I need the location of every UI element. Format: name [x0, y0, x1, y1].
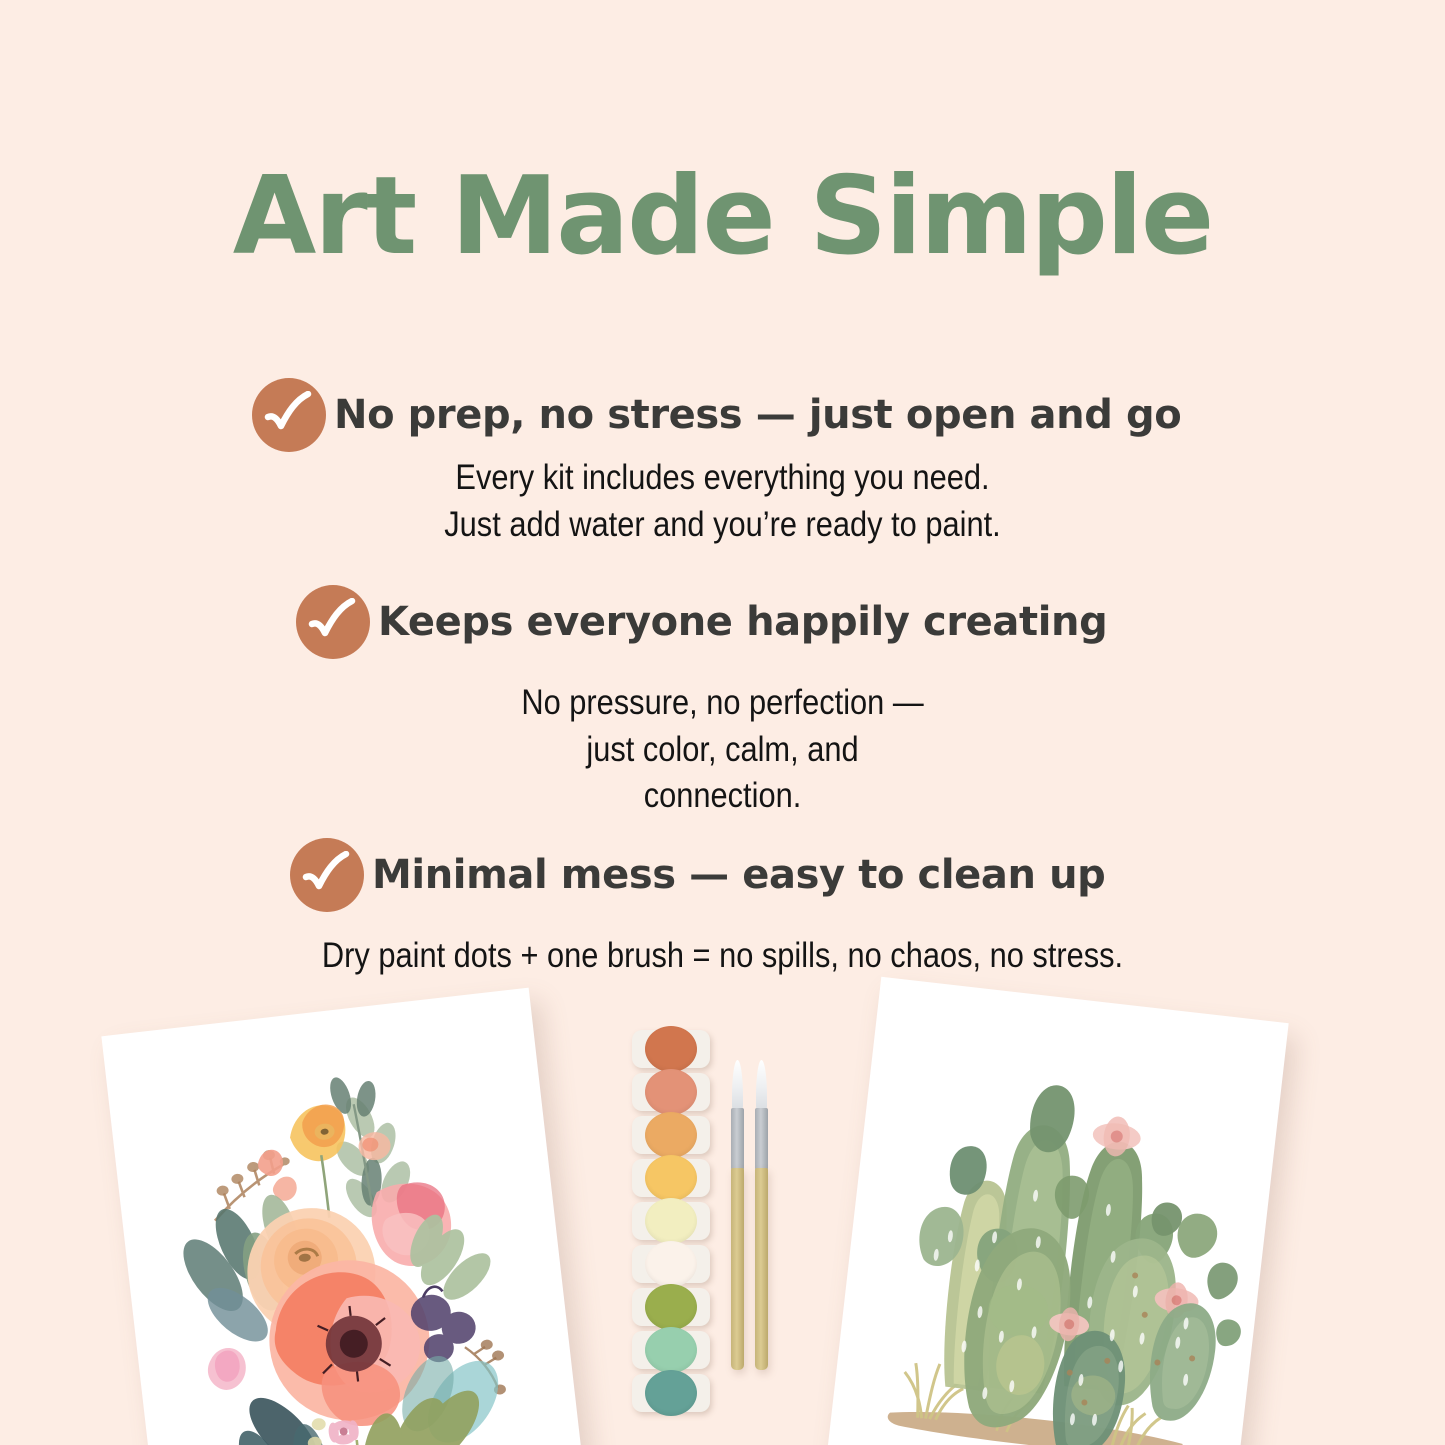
paint-dot-well[interactable]	[632, 1241, 710, 1287]
feature-item-1: No prep, no stress — just open and go	[252, 378, 1181, 452]
paint-dot-teal[interactable]	[645, 1370, 697, 1416]
brush-handle	[731, 1168, 744, 1370]
brush-ferrule	[731, 1108, 744, 1170]
brush-handle	[755, 1168, 768, 1370]
paint-brush[interactable]	[730, 1060, 745, 1370]
feature-heading-1: No prep, no stress — just open and go	[334, 392, 1181, 438]
paint-dot-well[interactable]	[632, 1155, 710, 1201]
page-title: Art Made Simple	[0, 163, 1445, 271]
paint-brush[interactable]	[754, 1060, 769, 1370]
paint-dot-well[interactable]	[632, 1069, 710, 1115]
paint-dot-well[interactable]	[632, 1370, 710, 1416]
paint-dot-well[interactable]	[632, 1026, 710, 1072]
feature-heading-3: Minimal mess — easy to clean up	[372, 852, 1105, 898]
paint-dot-strip[interactable]	[632, 1026, 710, 1416]
feature-body-3: Dry paint dots + one brush = no spills, …	[87, 933, 1359, 980]
paint-dot-salmon[interactable]	[645, 1069, 697, 1115]
paint-dot-mint-green[interactable]	[645, 1327, 697, 1373]
paint-brush-pair[interactable]	[726, 1060, 778, 1370]
paint-dot-well[interactable]	[632, 1112, 710, 1158]
feature-body-1: Every kit includes everything you need. …	[87, 455, 1359, 548]
check-circle-icon	[290, 838, 364, 912]
feature-item-3: Minimal mess — easy to clean up	[290, 838, 1105, 912]
brush-ferrule	[755, 1108, 768, 1170]
feature-heading-2: Keeps everyone happily creating	[378, 599, 1107, 645]
brush-bristle	[732, 1060, 743, 1110]
paint-dot-off-white[interactable]	[645, 1241, 697, 1287]
check-circle-icon	[252, 378, 326, 452]
floral-bouquet-illustration	[101, 988, 587, 1445]
checkmark-glyph	[302, 851, 352, 899]
checkmark-glyph	[308, 598, 358, 646]
feature-body-line: connection.	[87, 773, 1359, 820]
paint-dot-well[interactable]	[632, 1198, 710, 1244]
feature-body-line: just color, calm, and	[87, 727, 1359, 774]
paint-dot-well[interactable]	[632, 1327, 710, 1373]
feature-body-line: No pressure, no perfection —	[87, 680, 1359, 727]
paint-dot-terracotta[interactable]	[645, 1026, 697, 1072]
feature-body-line: Just add water and you’re ready to paint…	[87, 502, 1359, 549]
watercolor-cactus-card	[825, 977, 1289, 1445]
paint-dot-well[interactable]	[632, 1284, 710, 1330]
brush-bristle	[756, 1060, 767, 1110]
feature-item-2: Keeps everyone happily creating	[296, 585, 1107, 659]
feature-body-line: Every kit includes everything you need.	[87, 455, 1359, 502]
watercolor-floral-bouquet-card	[101, 988, 587, 1445]
paint-dot-pale-cream[interactable]	[645, 1198, 697, 1244]
paint-dot-golden-yellow[interactable]	[645, 1155, 697, 1201]
feature-body-2: No pressure, no perfection — just color,…	[87, 680, 1359, 820]
checkmark-glyph	[264, 391, 314, 439]
poster-canvas: Art Made Simple No prep, no stress — jus…	[0, 0, 1445, 1445]
feature-body-line: Dry paint dots + one brush = no spills, …	[87, 933, 1359, 980]
paint-dot-apricot[interactable]	[645, 1112, 697, 1158]
paint-dot-olive-green[interactable]	[645, 1284, 697, 1330]
cactus-illustration	[825, 977, 1289, 1445]
check-circle-icon	[296, 585, 370, 659]
